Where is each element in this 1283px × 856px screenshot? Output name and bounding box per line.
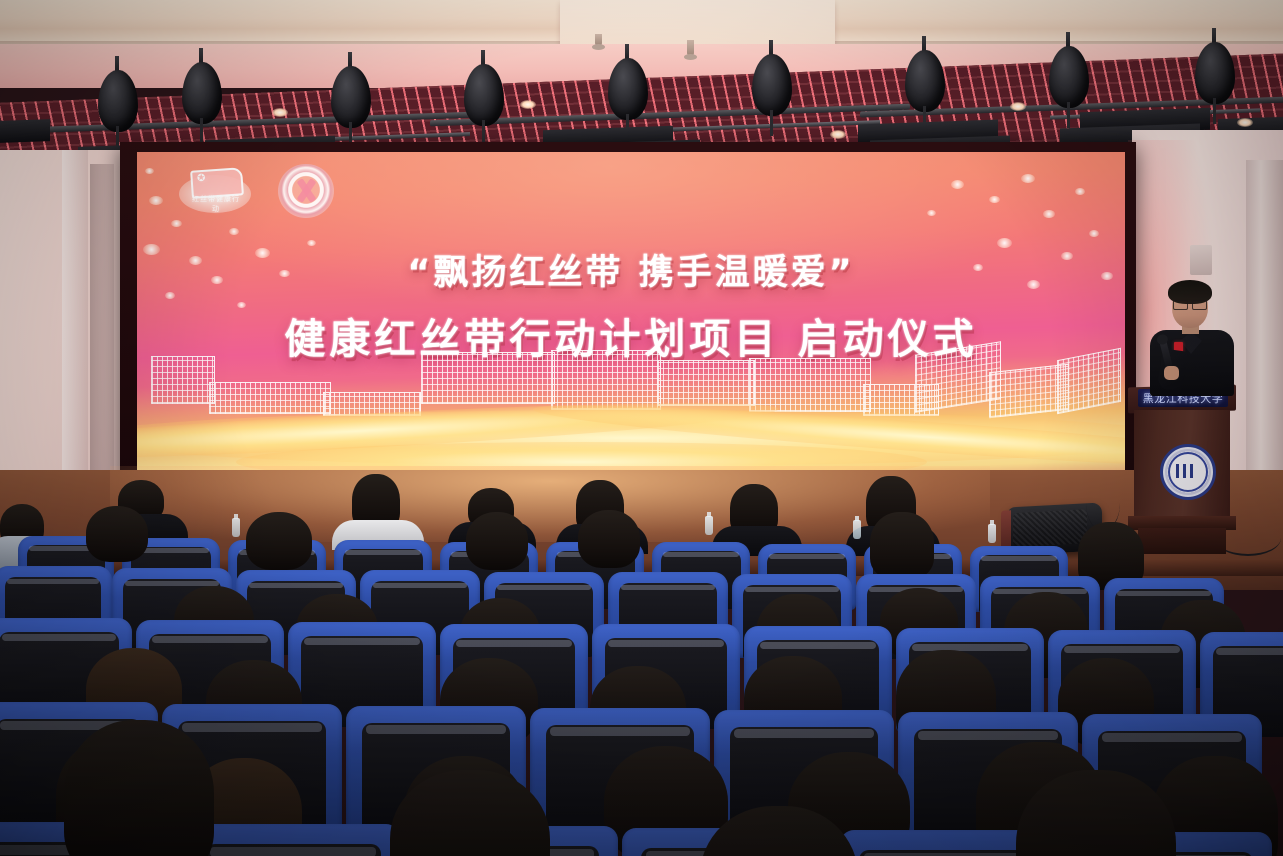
logo-left-caption: 红丝带健康行动	[189, 194, 243, 214]
recessed-downlight	[830, 130, 846, 139]
bokeh-dot	[1075, 188, 1085, 195]
audience-seating-area	[0, 470, 1283, 856]
led-screen: ✪ 红丝带健康行动 “飘扬红丝带 携手温暖爱” 健康红丝带行动计划项目 启动仪式	[137, 152, 1125, 474]
light-head-icon	[182, 62, 222, 124]
bokeh-dot	[229, 228, 239, 235]
ceiling-equipment-box	[0, 119, 50, 143]
bokeh-dot	[1021, 174, 1035, 183]
bokeh-dot	[927, 210, 936, 216]
recessed-downlight	[1237, 118, 1253, 127]
attendee-head	[246, 512, 312, 570]
bokeh-dot	[145, 168, 154, 174]
water-bottle	[988, 524, 996, 543]
attendee-head	[86, 506, 148, 562]
building-shape	[551, 350, 661, 410]
headline-line-1: “飘扬红丝带 携手温暖爱”	[137, 244, 1125, 295]
light-head-icon	[1049, 46, 1089, 108]
glasses-icon	[1173, 300, 1207, 308]
bokeh-dot	[149, 196, 163, 205]
bokeh-dot	[951, 180, 964, 189]
light-head-icon	[752, 54, 792, 116]
red-flag-emblem-logo: ✪ 红丝带健康行动	[179, 167, 251, 215]
water-bottle	[853, 520, 861, 539]
attendee-head	[466, 512, 528, 570]
light-stem	[770, 110, 773, 136]
presenter-at-podium	[1146, 282, 1238, 394]
recessed-downlight	[272, 108, 288, 117]
wall-recess	[90, 164, 114, 474]
fire-sprinkler-head	[687, 40, 694, 56]
university-seal-logo	[278, 164, 334, 218]
light-head-icon	[464, 64, 504, 126]
attendee-head	[870, 512, 934, 578]
light-head-icon	[331, 66, 371, 128]
attendee-head	[64, 720, 214, 856]
building-shape	[421, 352, 555, 404]
attendee-head	[578, 510, 640, 568]
building-shape	[749, 358, 871, 412]
light-head-icon	[1195, 42, 1235, 104]
light-stem	[1213, 98, 1216, 124]
auditorium-seat	[186, 824, 400, 856]
recessed-downlight	[520, 100, 536, 109]
building-shape	[1057, 348, 1121, 414]
wall-mounted-speaker	[1190, 245, 1212, 275]
light-head-icon	[98, 70, 138, 132]
light-head-icon	[905, 50, 945, 112]
water-bottle	[232, 518, 240, 537]
bokeh-dot	[1089, 230, 1099, 237]
light-stem	[200, 118, 203, 144]
presenter-hand	[1164, 366, 1179, 380]
recessed-downlight	[1010, 102, 1026, 111]
building-shape	[657, 360, 755, 406]
water-bottle	[705, 516, 713, 535]
bokeh-dot	[989, 196, 1000, 203]
bokeh-dot	[1043, 210, 1055, 218]
light-head-icon	[608, 58, 648, 120]
light-stem	[1067, 102, 1070, 128]
building-shape	[209, 382, 331, 414]
fire-sprinkler-head	[595, 34, 602, 46]
red-ribbon-icon	[293, 178, 319, 202]
bokeh-dot	[171, 220, 182, 227]
building-shape	[151, 356, 215, 404]
event-photo-scene: ✪ 红丝带健康行动 “飘扬红丝带 携手温暖爱” 健康红丝带行动计划项目 启动仪式	[0, 0, 1283, 856]
star-icon: ✪	[197, 174, 205, 184]
